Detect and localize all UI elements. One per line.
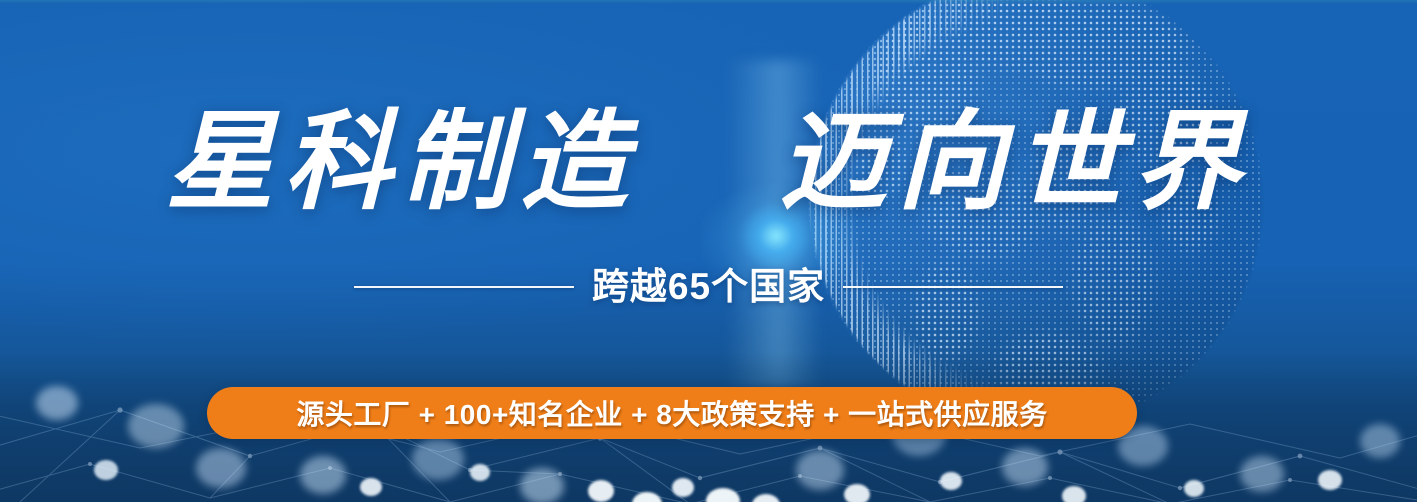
features-pill[interactable]: 源头工厂 + 100+知名企业 + 8大政策支持 + 一站式供应服务 [207, 387, 1137, 439]
headline-segment-1: 星科制造 [166, 108, 638, 216]
subtitle-row: 跨越65个国家 [0, 268, 1417, 305]
subtitle-text: 跨越65个国家 [592, 268, 825, 305]
promo-banner: 星科制造 迈向世界 跨越65个国家 源头工厂 + 100+知名企业 + 8大政策… [0, 0, 1417, 502]
subtitle-rule-right [843, 286, 1063, 288]
subtitle-rule-left [354, 286, 574, 288]
headline-segment-2: 迈向世界 [779, 108, 1251, 216]
banner-headline: 星科制造 迈向世界 [0, 108, 1417, 216]
features-pill-label: 源头工厂 + 100+知名企业 + 8大政策支持 + 一站式供应服务 [296, 393, 1047, 433]
top-accent-strip [0, 0, 1417, 4]
